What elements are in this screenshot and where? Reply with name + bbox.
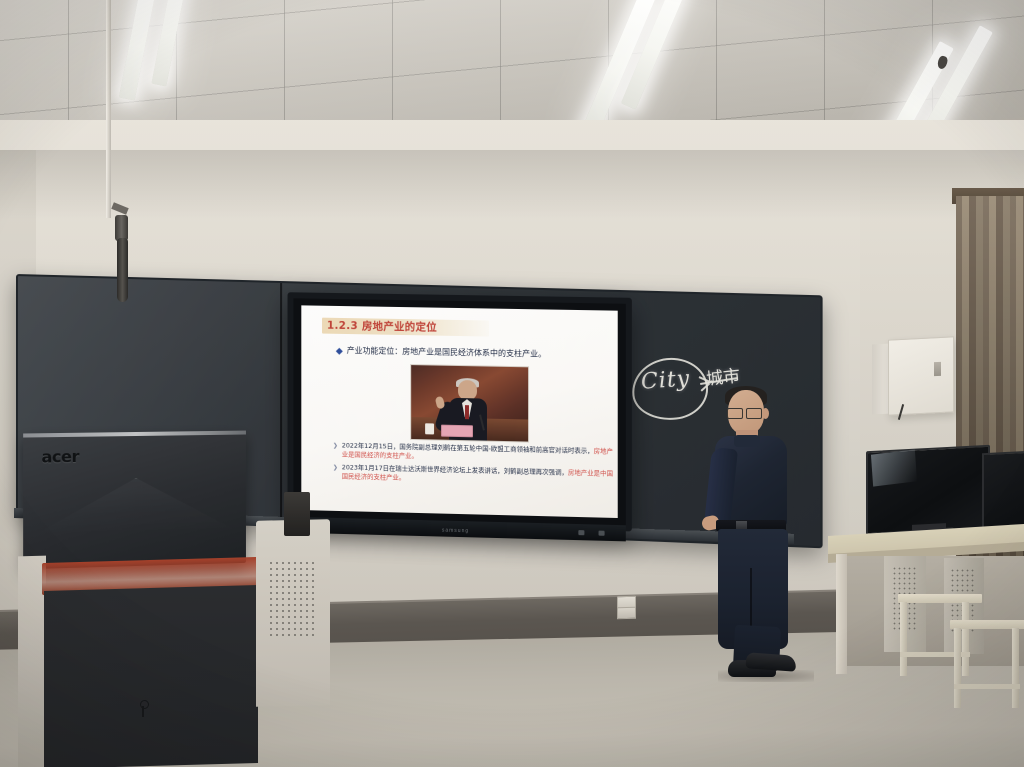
- stool-leg: [962, 602, 969, 676]
- lecturer: [700, 388, 822, 680]
- monitor-brand-logo: acer: [41, 447, 78, 467]
- chalk-word-chinese: 城市: [705, 361, 741, 389]
- lecturer-collar: [734, 435, 760, 447]
- stool-rail: [954, 684, 1020, 689]
- photo-cup: [425, 423, 434, 434]
- stool-leg: [954, 628, 961, 708]
- diamond-bullet-icon: [336, 348, 343, 355]
- podium-lock-icon[interactable]: [140, 700, 147, 716]
- chevron-bullet-icon: ❯: [333, 441, 338, 451]
- classroom-scene: City 城市 1.2.3 房地产业的定位 产业功能定位：房地产业是国民经济体系…: [0, 0, 1024, 767]
- desk-monitor[interactable]: [982, 451, 1024, 534]
- chalk-word-city: City: [640, 366, 691, 394]
- cabinet-latch-icon[interactable]: [934, 362, 941, 376]
- slide-main-bullet: 产业功能定位：房地产业是国民经济体系中的支柱产业。: [337, 346, 607, 361]
- lecturer-ear: [762, 408, 769, 419]
- presentation-slide: 1.2.3 房地产业的定位 产业功能定位：房地产业是国民经济体系中的支柱产业。: [301, 305, 617, 518]
- photo-nameplate: [441, 425, 473, 438]
- slide-title: 1.2.3 房地产业的定位: [327, 318, 437, 336]
- photo-figure-tie: [465, 405, 469, 419]
- slide-point: ❯ 2022年12月15日，国务院副总理刘鹤在第五轮中国-欧盟工商领袖和前高官对…: [333, 441, 618, 466]
- wall-top-shadow: [0, 150, 1024, 220]
- stool-seat[interactable]: [898, 594, 982, 603]
- lectern-monitor[interactable]: acer: [23, 431, 246, 570]
- stool-leg: [900, 602, 907, 676]
- desk-under-shelf: [846, 556, 1024, 666]
- monitor-glare: [871, 449, 917, 486]
- lecturer-shoe: [746, 652, 797, 671]
- chevron-bullet-icon: ❯: [333, 463, 338, 473]
- display-brand-label: samsung: [442, 528, 469, 535]
- slide-point-text: 2022年12月15日，国务院副总理刘鹤在第五轮中国-欧盟工商领袖和前高官对话时…: [342, 441, 618, 466]
- ceiling-microphone-icon: [117, 238, 128, 302]
- desk-leg: [836, 554, 847, 674]
- slide-main-bullet-text: 产业功能定位：房地产业是国民经济体系中的支柱产业。: [347, 346, 546, 360]
- glasses-icon: [727, 408, 763, 417]
- display-control-button[interactable]: [599, 531, 605, 536]
- wall-cabinet[interactable]: [888, 336, 954, 415]
- monitor-rear-contour: [33, 476, 236, 535]
- ceiling-mount-pole: [106, 0, 111, 218]
- slide-point-text: 2023年1月17日在瑞士达沃斯世界经济论坛上发表讲话，刘鹤副总理再次强调，房地…: [342, 463, 618, 488]
- podium-front-panel[interactable]: [44, 585, 258, 767]
- speaker-top-unit: [284, 492, 310, 536]
- slide-point: ❯ 2023年1月17日在瑞士达沃斯世界经济论坛上发表讲话，刘鹤副总理再次强调，…: [333, 463, 618, 488]
- display-control-button[interactable]: [579, 530, 585, 535]
- wall-socket[interactable]: [617, 607, 636, 619]
- stool-leg: [1012, 628, 1019, 708]
- smart-display[interactable]: 1.2.3 房地产业的定位 产业功能定位：房地产业是国民经济体系中的支柱产业。: [288, 292, 632, 531]
- slide-embedded-photo: [410, 364, 529, 442]
- speaker-grille: [268, 560, 316, 640]
